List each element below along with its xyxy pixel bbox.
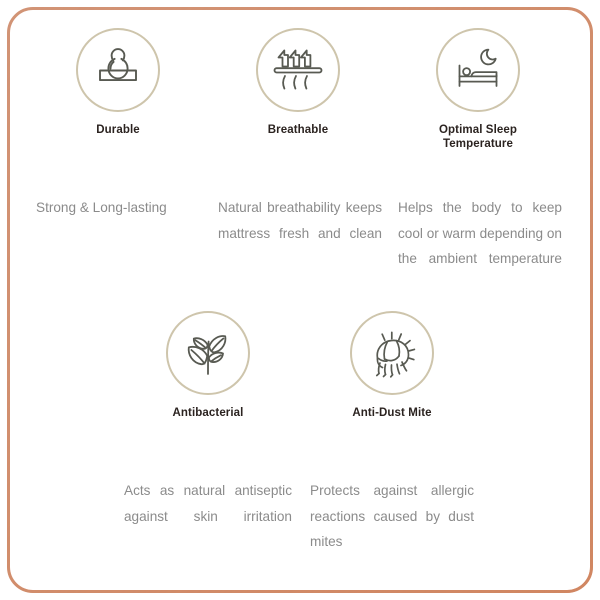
- feature-description-durable: Strong & Long-lasting: [36, 195, 202, 221]
- feature-optimal-sleep-temperature[interactable]: Optimal Sleep Temperature: [388, 28, 568, 152]
- feature-description-anti-dust-mite: Protects against allergic reactions caus…: [310, 478, 474, 580]
- feature-row-bottom: Antibacterial: [0, 311, 600, 420]
- feature-description-breathable: Natural breathability keeps mattress fre…: [218, 195, 382, 272]
- feature-label: Breathable: [268, 123, 328, 137]
- feature-description-optimal-sleep-temperature: Helps the body to keep cool or warm depe…: [398, 195, 562, 297]
- feature-row-top: Durable Breat: [0, 28, 600, 152]
- feature-label: Optimal Sleep Temperature: [439, 123, 517, 152]
- kettlebell-on-mattress-icon: [76, 28, 160, 112]
- feature-label: Antibacterial: [173, 406, 244, 420]
- bed-with-moon-icon: [436, 28, 520, 112]
- airflow-arrows-icon: [256, 28, 340, 112]
- plant-leaves-icon: [166, 311, 250, 395]
- feature-breathable[interactable]: Breathable: [208, 28, 388, 152]
- feature-durable[interactable]: Durable: [28, 28, 208, 152]
- feature-label: Anti-Dust Mite: [352, 406, 431, 420]
- feature-description-antibacterial: Acts as natural antiseptic against skin …: [124, 478, 292, 555]
- feature-highlight-panel: Durable Breat: [0, 0, 600, 600]
- feature-anti-dust-mite[interactable]: Anti-Dust Mite: [300, 311, 484, 420]
- dust-mite-icon: [350, 311, 434, 395]
- feature-antibacterial[interactable]: Antibacterial: [116, 311, 300, 420]
- feature-label: Durable: [96, 123, 140, 137]
